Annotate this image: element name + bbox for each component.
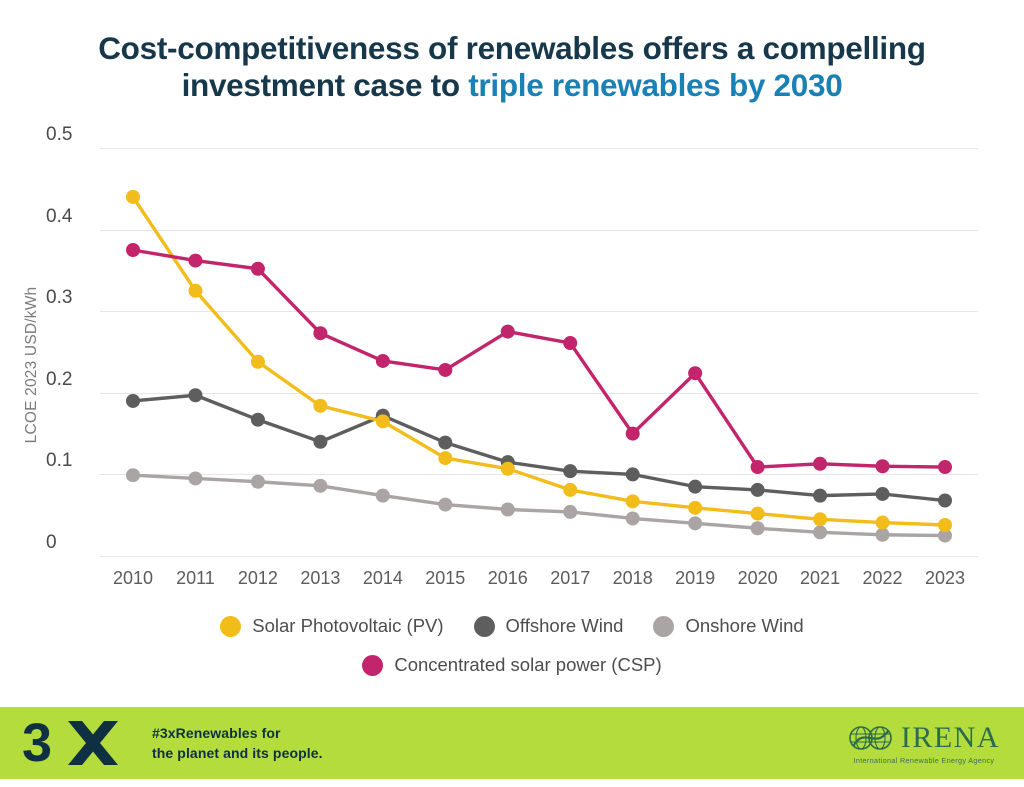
data-point-marker bbox=[751, 483, 765, 497]
data-point-marker bbox=[688, 480, 702, 494]
plot-area bbox=[0, 128, 1024, 608]
page-title: Cost-competitiveness of renewables offer… bbox=[0, 30, 1024, 104]
x-tick-label: 2016 bbox=[473, 568, 543, 589]
data-point-marker bbox=[688, 501, 702, 515]
legend-row-primary: Solar Photovoltaic (PV)Offshore WindOnsh… bbox=[0, 615, 1024, 637]
grid-line bbox=[100, 230, 978, 231]
data-point-marker bbox=[188, 254, 202, 268]
irena-globe-icon bbox=[848, 723, 894, 753]
y-tick-label: 0.1 bbox=[46, 450, 92, 472]
data-point-marker bbox=[376, 414, 390, 428]
y-tick-label: 0.3 bbox=[46, 287, 92, 309]
series-line bbox=[133, 250, 945, 467]
grid-line bbox=[100, 474, 978, 475]
legend-item[interactable]: Onshore Wind bbox=[653, 615, 803, 637]
title-line-2-prefix: investment case to bbox=[182, 67, 469, 103]
grid-line bbox=[100, 148, 978, 149]
legend-dot-offshore-wind bbox=[474, 616, 495, 637]
slide-root: Cost-competitiveness of renewables offer… bbox=[0, 0, 1024, 787]
data-point-marker bbox=[938, 529, 952, 543]
title-accent-text: triple renewables by 2030 bbox=[468, 67, 842, 103]
series-line bbox=[133, 197, 945, 525]
data-point-marker bbox=[251, 475, 265, 489]
data-point-marker bbox=[376, 489, 390, 503]
data-point-marker bbox=[501, 502, 515, 516]
y-tick-label: 0.5 bbox=[46, 124, 92, 146]
legend-item-label: Offshore Wind bbox=[506, 615, 624, 637]
data-point-marker bbox=[813, 512, 827, 526]
legend-dot-solar-pv bbox=[220, 616, 241, 637]
chart-legend: Solar Photovoltaic (PV)Offshore WindOnsh… bbox=[0, 615, 1024, 676]
data-point-marker bbox=[938, 518, 952, 532]
data-point-marker bbox=[126, 243, 140, 257]
data-point-marker bbox=[938, 494, 952, 508]
data-point-marker bbox=[438, 363, 452, 377]
y-tick-label: 0.2 bbox=[46, 369, 92, 391]
irena-logo-top: IRENA bbox=[848, 721, 1000, 755]
series-line bbox=[133, 475, 945, 535]
x-tick-label: 2017 bbox=[535, 568, 605, 589]
data-point-marker bbox=[938, 460, 952, 474]
irena-wordmark: IRENA bbox=[901, 721, 1000, 755]
data-point-marker bbox=[563, 336, 577, 350]
data-point-marker bbox=[876, 528, 890, 542]
x-tick-label: 2020 bbox=[723, 568, 793, 589]
x-tick-label: 2011 bbox=[160, 568, 230, 589]
data-point-marker bbox=[626, 427, 640, 441]
irena-subtitle: International Renewable Energy Agency bbox=[854, 756, 995, 765]
data-point-marker bbox=[563, 483, 577, 497]
data-point-marker bbox=[688, 366, 702, 380]
x-tick-label: 2022 bbox=[848, 568, 918, 589]
title-line-1: Cost-competitiveness of renewables offer… bbox=[0, 30, 1024, 67]
legend-dot-csp bbox=[362, 655, 383, 676]
y-axis-title: LCOE 2023 USD/kWh bbox=[23, 225, 41, 505]
data-point-marker bbox=[876, 516, 890, 530]
x-tick-label: 2015 bbox=[410, 568, 480, 589]
data-point-marker bbox=[501, 455, 515, 469]
data-point-marker bbox=[751, 507, 765, 521]
data-point-marker bbox=[251, 355, 265, 369]
data-point-marker bbox=[126, 394, 140, 408]
data-point-marker bbox=[251, 413, 265, 427]
footer-tagline-line-2: the planet and its people. bbox=[152, 743, 323, 763]
line-chart: LCOE 2023 USD/kWh 00.10.20.30.40.5 20102… bbox=[0, 128, 1024, 608]
footer-tagline: #3xRenewables for the planet and its peo… bbox=[152, 723, 323, 764]
y-tick-label: 0 bbox=[46, 532, 92, 554]
data-point-marker bbox=[438, 451, 452, 465]
legend-item-label: Onshore Wind bbox=[685, 615, 803, 637]
data-point-marker bbox=[563, 505, 577, 519]
data-point-marker bbox=[376, 409, 390, 423]
legend-item[interactable]: Solar Photovoltaic (PV) bbox=[220, 615, 443, 637]
x-tick-label: 2014 bbox=[348, 568, 418, 589]
data-point-marker bbox=[626, 511, 640, 525]
data-point-marker bbox=[188, 284, 202, 298]
legend-item-label: Concentrated solar power (CSP) bbox=[394, 654, 661, 676]
x-tick-label: 2018 bbox=[598, 568, 668, 589]
legend-item[interactable]: Offshore Wind bbox=[474, 615, 624, 637]
data-point-marker bbox=[313, 479, 327, 493]
data-point-marker bbox=[501, 325, 515, 339]
data-point-marker bbox=[813, 525, 827, 539]
title-line-2: investment case to triple renewables by … bbox=[0, 67, 1024, 104]
grid-line bbox=[100, 393, 978, 394]
data-point-marker bbox=[313, 399, 327, 413]
legend-row-secondary: Concentrated solar power (CSP) bbox=[0, 654, 1024, 676]
data-point-marker bbox=[376, 354, 390, 368]
data-point-marker bbox=[813, 489, 827, 503]
x-tick-label: 2021 bbox=[785, 568, 855, 589]
x-tick-label: 2012 bbox=[223, 568, 293, 589]
data-point-marker bbox=[688, 516, 702, 530]
x-tick-label: 2019 bbox=[660, 568, 730, 589]
data-point-marker bbox=[188, 388, 202, 402]
legend-item-label: Solar Photovoltaic (PV) bbox=[252, 615, 443, 637]
three-x-logo-icon: 3 bbox=[22, 717, 134, 769]
grid-line bbox=[100, 311, 978, 312]
irena-logo: IRENA International Renewable Energy Age… bbox=[848, 721, 1000, 765]
data-point-marker bbox=[126, 190, 140, 204]
legend-item[interactable]: Concentrated solar power (CSP) bbox=[362, 654, 661, 676]
data-point-marker bbox=[438, 498, 452, 512]
data-point-marker bbox=[876, 487, 890, 501]
data-point-marker bbox=[313, 326, 327, 340]
footer-tagline-line-1: #3xRenewables for bbox=[152, 723, 323, 743]
legend-dot-onshore-wind bbox=[653, 616, 674, 637]
data-point-marker bbox=[313, 435, 327, 449]
data-point-marker bbox=[438, 436, 452, 450]
footer-banner: 3 #3xRenewables for the planet and its p… bbox=[0, 707, 1024, 779]
data-point-marker bbox=[751, 521, 765, 535]
footer-bottom-strip bbox=[0, 779, 1024, 787]
data-point-marker bbox=[251, 262, 265, 276]
series-line bbox=[133, 395, 945, 500]
y-tick-label: 0.4 bbox=[46, 206, 92, 228]
data-point-marker bbox=[751, 460, 765, 474]
data-point-marker bbox=[626, 494, 640, 508]
svg-text:3: 3 bbox=[22, 717, 52, 769]
data-point-marker bbox=[563, 464, 577, 478]
data-point-marker bbox=[813, 457, 827, 471]
x-tick-label: 2023 bbox=[910, 568, 980, 589]
grid-line bbox=[100, 556, 978, 557]
x-tick-label: 2013 bbox=[285, 568, 355, 589]
x-tick-label: 2010 bbox=[98, 568, 168, 589]
data-point-marker bbox=[876, 459, 890, 473]
